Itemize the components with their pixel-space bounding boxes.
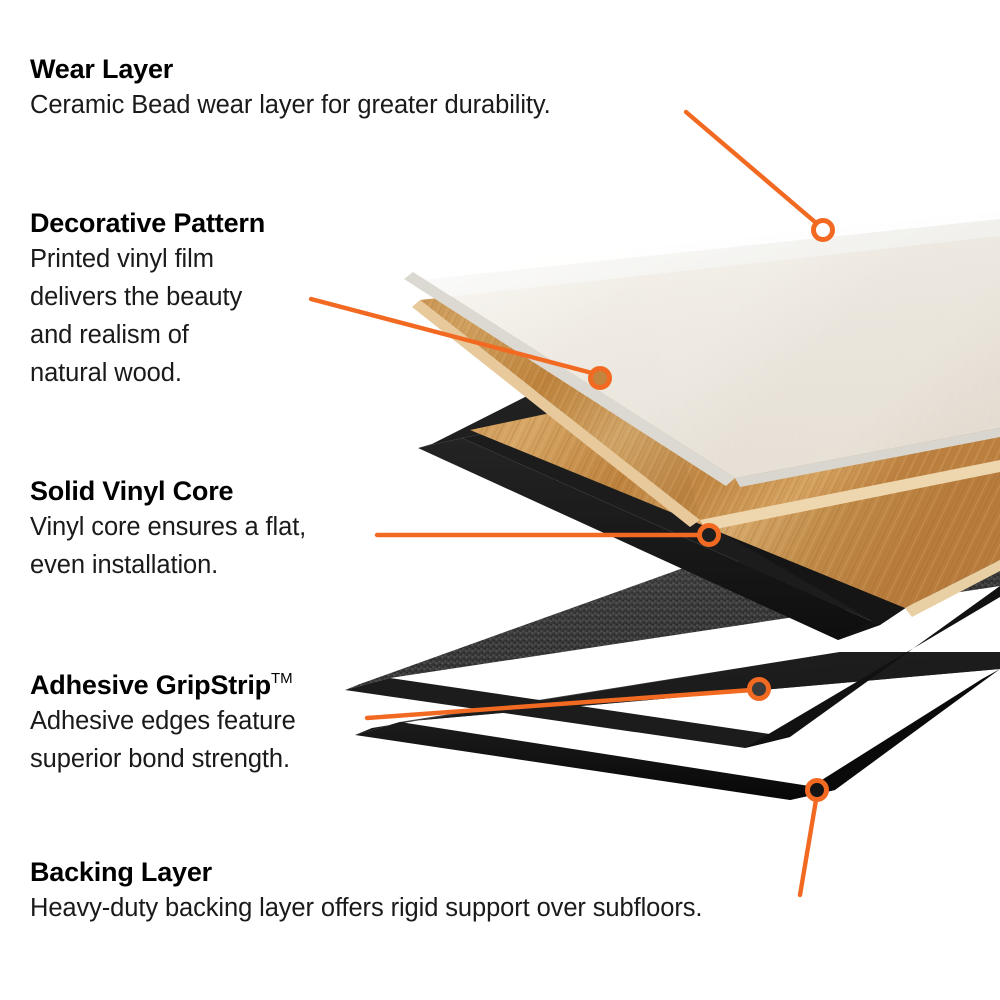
leader-line-backing-layer xyxy=(800,800,816,895)
callout-backing-layer: Backing Layer Heavy-duty backing layer o… xyxy=(30,855,702,927)
flooring-layer-diagram-page: Wear Layer Ceramic Bead wear layer for g… xyxy=(0,0,1000,1000)
callout-dot-decorative-pattern xyxy=(591,369,610,388)
callout-title-wear-layer: Wear Layer xyxy=(30,52,551,86)
callout-wear-layer: Wear Layer Ceramic Bead wear layer for g… xyxy=(30,52,551,124)
callout-solid-vinyl-core: Solid Vinyl Core Vinyl core ensures a fl… xyxy=(30,474,306,584)
callout-dot-wear-layer xyxy=(814,221,833,240)
callout-body-decorative-pattern: Printed vinyl film delivers the beauty a… xyxy=(30,240,265,392)
callout-dot-backing-layer xyxy=(808,781,827,800)
callout-decorative-pattern: Decorative Pattern Printed vinyl film de… xyxy=(30,206,265,392)
callout-body-adhesive-gripstrip: Adhesive edges feature superior bond str… xyxy=(30,702,296,778)
callout-dot-solid-vinyl-core xyxy=(700,526,719,545)
callout-body-backing-layer: Heavy-duty backing layer offers rigid su… xyxy=(30,889,702,927)
callout-dot-adhesive-gripstrip xyxy=(750,680,769,699)
callout-title-adhesive-gripstrip-text: Adhesive GripStrip xyxy=(30,670,271,700)
callout-body-solid-vinyl-core: Vinyl core ensures a flat, even installa… xyxy=(30,508,306,584)
callout-title-solid-vinyl-core: Solid Vinyl Core xyxy=(30,474,306,508)
callout-body-wear-layer: Ceramic Bead wear layer for greater dura… xyxy=(30,86,551,124)
leader-line-wear-layer xyxy=(686,112,815,222)
callout-title-decorative-pattern: Decorative Pattern xyxy=(30,206,265,240)
callout-title-backing-layer: Backing Layer xyxy=(30,855,702,889)
callout-title-adhesive-gripstrip: Adhesive GripStripTM xyxy=(30,662,296,702)
callout-adhesive-gripstrip: Adhesive GripStripTM Adhesive edges feat… xyxy=(30,662,296,778)
trademark-superscript: TM xyxy=(271,670,293,687)
